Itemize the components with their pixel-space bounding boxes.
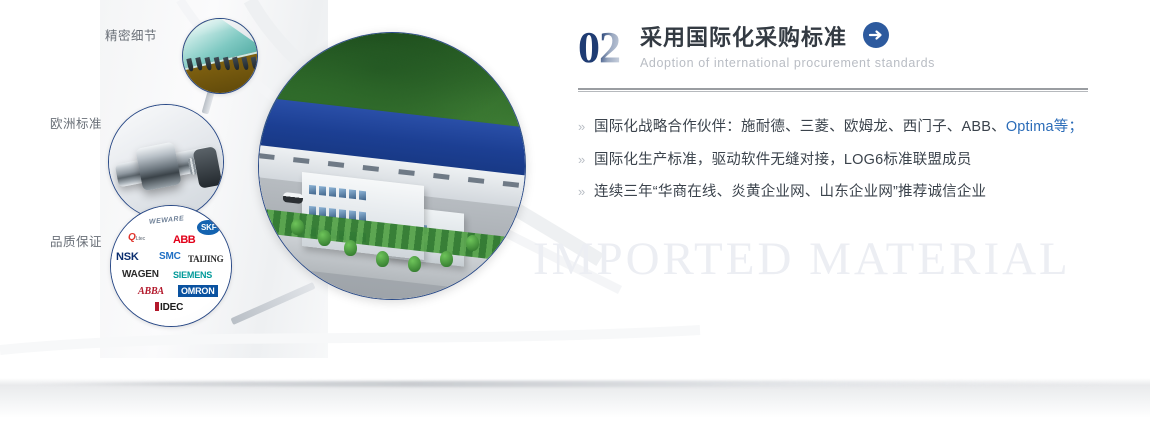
- logo-siemens: SIEMENS: [173, 270, 212, 280]
- section-header: 02 采用国际化采购标准 Adoption of international p…: [578, 25, 935, 70]
- list-item: » 国际化生产标准，驱动软件无缝对接，LOG6标准联盟成员: [578, 151, 1098, 171]
- logo-wagen: WAGEN: [122, 269, 159, 280]
- list-item: » 国际化战略合作伙伴：施耐德、三菱、欧姆龙、西门子、ABB、Optima等；: [578, 118, 1098, 138]
- logo-dot-brand: QLtec: [128, 232, 145, 243]
- logo-idec: IDEC: [155, 302, 183, 313]
- arrow-right-circle-icon[interactable]: [863, 22, 889, 48]
- quality-assurance-circle: WEWARE SKF QLtec ABB NSK SMC TAIJING WAG…: [110, 205, 232, 327]
- content-column: 02 采用国际化采购标准 Adoption of international p…: [578, 0, 1118, 430]
- label-precision-detail: 精密细节: [105, 25, 157, 44]
- factory-aerial-circle: [258, 32, 526, 300]
- section-number: 02: [578, 26, 626, 70]
- list-item-highlight: Optima等；: [1006, 119, 1083, 135]
- label-quality-assurance: 品质保证: [50, 231, 102, 250]
- parked-car: [282, 191, 303, 203]
- european-standard-circle: [108, 104, 224, 220]
- promo-banner: WEWARE SKF QLtec ABB NSK SMC TAIJING WAG…: [0, 0, 1150, 430]
- logo-taijing: TAIJING: [188, 254, 223, 264]
- label-european-standard: 欧洲标准: [50, 113, 102, 132]
- chevron-double-right-icon: »: [578, 153, 594, 166]
- brand-logo-collage: WEWARE SKF QLtec ABB NSK SMC TAIJING WAG…: [111, 206, 231, 326]
- logo-omron: OMRON: [178, 285, 218, 297]
- header-divider: [578, 88, 1088, 92]
- precision-detail-circle: [182, 18, 258, 94]
- list-item-text: 连续三年“华商在线、炎黄企业网、山东企业网”推荐诚信企业: [594, 183, 986, 203]
- list-item: » 连续三年“华商在线、炎黄企业网、山东企业网”推荐诚信企业: [578, 183, 1098, 203]
- chevron-double-right-icon: »: [578, 120, 594, 133]
- page-subtitle: Adoption of international procurement st…: [640, 56, 935, 70]
- logo-weware: WEWARE: [149, 215, 185, 226]
- logo-smc: SMC: [159, 251, 181, 262]
- logo-nsk: NSK: [116, 251, 139, 263]
- list-item-text: 国际化生产标准，驱动软件无缝对接，LOG6标准联盟成员: [594, 151, 972, 171]
- chevron-double-right-icon: »: [578, 185, 594, 198]
- watermark-text: IMPORTED MATERIAL: [533, 232, 1071, 286]
- logo-skf: SKF: [197, 220, 220, 235]
- ball-screw-image: [109, 105, 223, 219]
- feature-list: » 国际化战略合作伙伴：施耐德、三菱、欧姆龙、西门子、ABB、Optima等； …: [578, 118, 1098, 216]
- page-title: 采用国际化采购标准: [640, 26, 847, 50]
- list-item-text: 国际化战略合作伙伴：施耐德、三菱、欧姆龙、西门子、ABB、Optima等；: [594, 118, 1083, 138]
- logo-abb: ABB: [173, 234, 195, 246]
- gear-teeth-image: [183, 19, 257, 93]
- logo-abba: ABBA: [138, 286, 164, 297]
